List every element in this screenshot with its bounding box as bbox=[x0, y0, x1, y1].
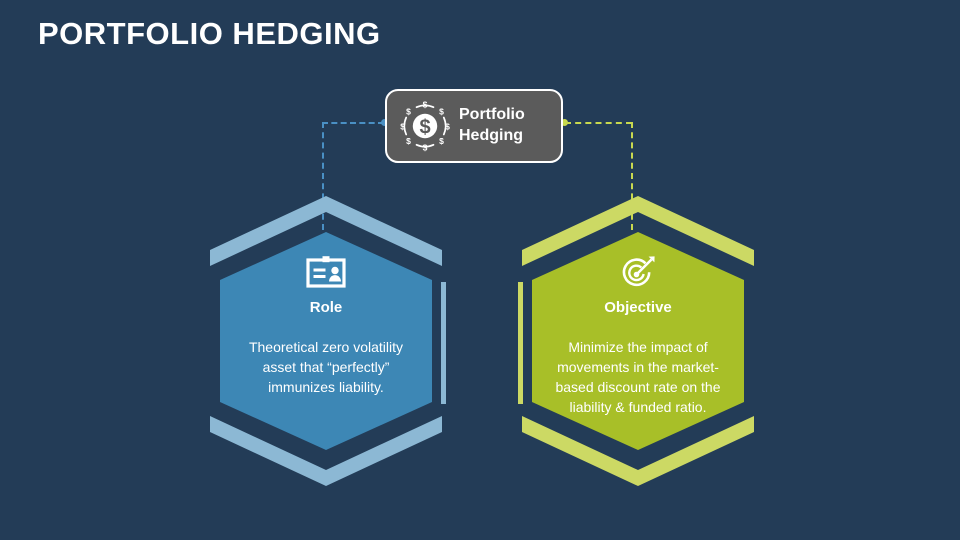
svg-text:$: $ bbox=[423, 100, 428, 110]
svg-text:$: $ bbox=[445, 122, 450, 132]
role-hexagon-body bbox=[220, 232, 432, 450]
role-accent-bar bbox=[441, 282, 446, 404]
objective-hexagon-body bbox=[532, 232, 744, 450]
panel-role[interactable]: Role Theoretical zero volatility asset t… bbox=[196, 196, 456, 486]
slide-canvas: PORTFOLIO HEDGING $ $ bbox=[0, 0, 960, 540]
svg-text:$: $ bbox=[423, 143, 428, 153]
center-node-label-line2: Hedging bbox=[459, 126, 525, 147]
svg-text:$: $ bbox=[439, 136, 444, 146]
connector-left-horizontal bbox=[322, 122, 384, 124]
objective-accent-bar bbox=[518, 282, 523, 404]
page-title: PORTFOLIO HEDGING bbox=[38, 16, 381, 52]
svg-text:$: $ bbox=[406, 136, 411, 146]
svg-text:$: $ bbox=[419, 116, 430, 138]
svg-text:$: $ bbox=[439, 107, 444, 117]
center-node-label-line1: Portfolio bbox=[459, 105, 525, 126]
connector-right-horizontal bbox=[565, 122, 632, 124]
svg-text:$: $ bbox=[406, 107, 411, 117]
center-node-label: Portfolio Hedging bbox=[459, 105, 525, 147]
panel-objective[interactable]: Objective Minimize the impact of movemen… bbox=[508, 196, 768, 486]
dollar-circle-icon: $ $ $ $ $ $ $ $ $ bbox=[399, 100, 451, 152]
center-node[interactable]: $ $ $ $ $ $ $ $ $ Portfolio Hedging bbox=[385, 89, 563, 163]
svg-text:$: $ bbox=[400, 122, 405, 132]
